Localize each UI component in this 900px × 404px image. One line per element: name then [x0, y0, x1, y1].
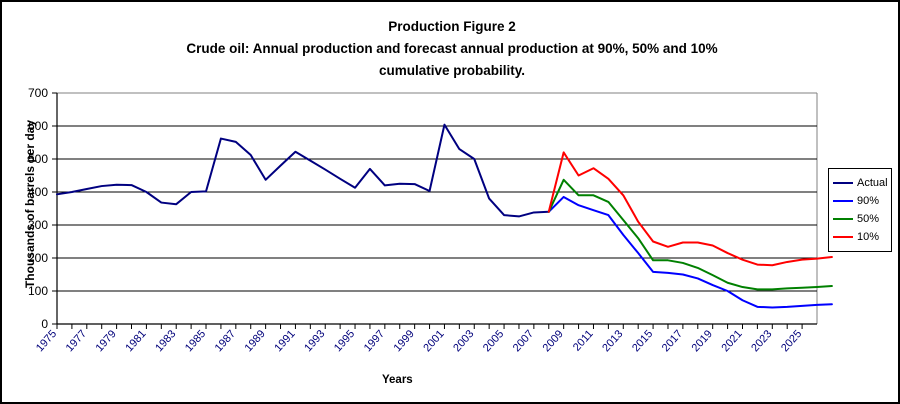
x-tick-label: 2013 [600, 328, 625, 354]
legend-item-label: 10% [857, 231, 879, 243]
chart-legend: Actual90%50%10% [828, 168, 892, 252]
y-tick-label: 700 [28, 86, 48, 100]
x-tick-label: 1979 [94, 328, 119, 354]
x-tick-label: 1995 [332, 328, 357, 354]
plot-area: 0100200300400500600700197519771979198119… [2, 2, 900, 404]
x-tick-label: 2025 [779, 328, 804, 354]
x-tick-label: 1987 [213, 328, 238, 354]
x-tick-label: 2015 [630, 328, 655, 354]
x-tick-label: 2001 [421, 328, 446, 354]
x-tick-label: 2019 [690, 328, 715, 354]
legend-color-swatch [833, 182, 853, 184]
series-line-50 [549, 180, 832, 290]
legend-item-label: Actual [857, 177, 888, 189]
x-tick-label: 1997 [362, 328, 387, 354]
legend-item-label: 50% [857, 213, 879, 225]
x-tick-label: 1981 [123, 328, 148, 354]
x-tick-label: 2009 [541, 328, 566, 354]
x-tick-label: 2023 [749, 328, 774, 354]
legend-color-swatch [833, 236, 853, 238]
legend-color-swatch [833, 200, 853, 202]
legend-item: Actual [829, 174, 891, 192]
x-tick-label: 1999 [392, 328, 417, 354]
y-tick-label: 400 [28, 185, 48, 199]
series-line-actual [57, 125, 549, 217]
x-tick-label: 2005 [481, 328, 506, 354]
y-tick-label: 500 [28, 152, 48, 166]
y-tick-label: 200 [28, 251, 48, 265]
x-tick-label: 1977 [64, 328, 89, 354]
legend-item: 50% [829, 210, 891, 228]
x-tick-label: 1991 [272, 328, 297, 354]
x-tick-label: 2017 [660, 328, 685, 354]
y-tick-label: 600 [28, 119, 48, 133]
y-tick-label: 100 [28, 284, 48, 298]
x-tick-label: 1985 [183, 328, 208, 354]
legend-item: 90% [829, 192, 891, 210]
y-tick-label: 0 [41, 317, 48, 331]
x-tick-label: 1993 [302, 328, 327, 354]
legend-item: 10% [829, 228, 891, 246]
legend-color-swatch [833, 218, 853, 220]
x-tick-label: 2003 [451, 328, 476, 354]
chart-figure: Production Figure 2 Crude oil: Annual pr… [0, 0, 900, 404]
x-tick-label: 1983 [153, 328, 178, 354]
legend-item-label: 90% [857, 195, 879, 207]
y-tick-label: 300 [28, 218, 48, 232]
x-tick-label: 2021 [719, 328, 744, 354]
x-tick-label: 1989 [243, 328, 268, 354]
x-tick-label: 1975 [34, 328, 59, 354]
x-tick-label: 2007 [511, 328, 536, 354]
x-tick-label: 2011 [571, 328, 596, 354]
